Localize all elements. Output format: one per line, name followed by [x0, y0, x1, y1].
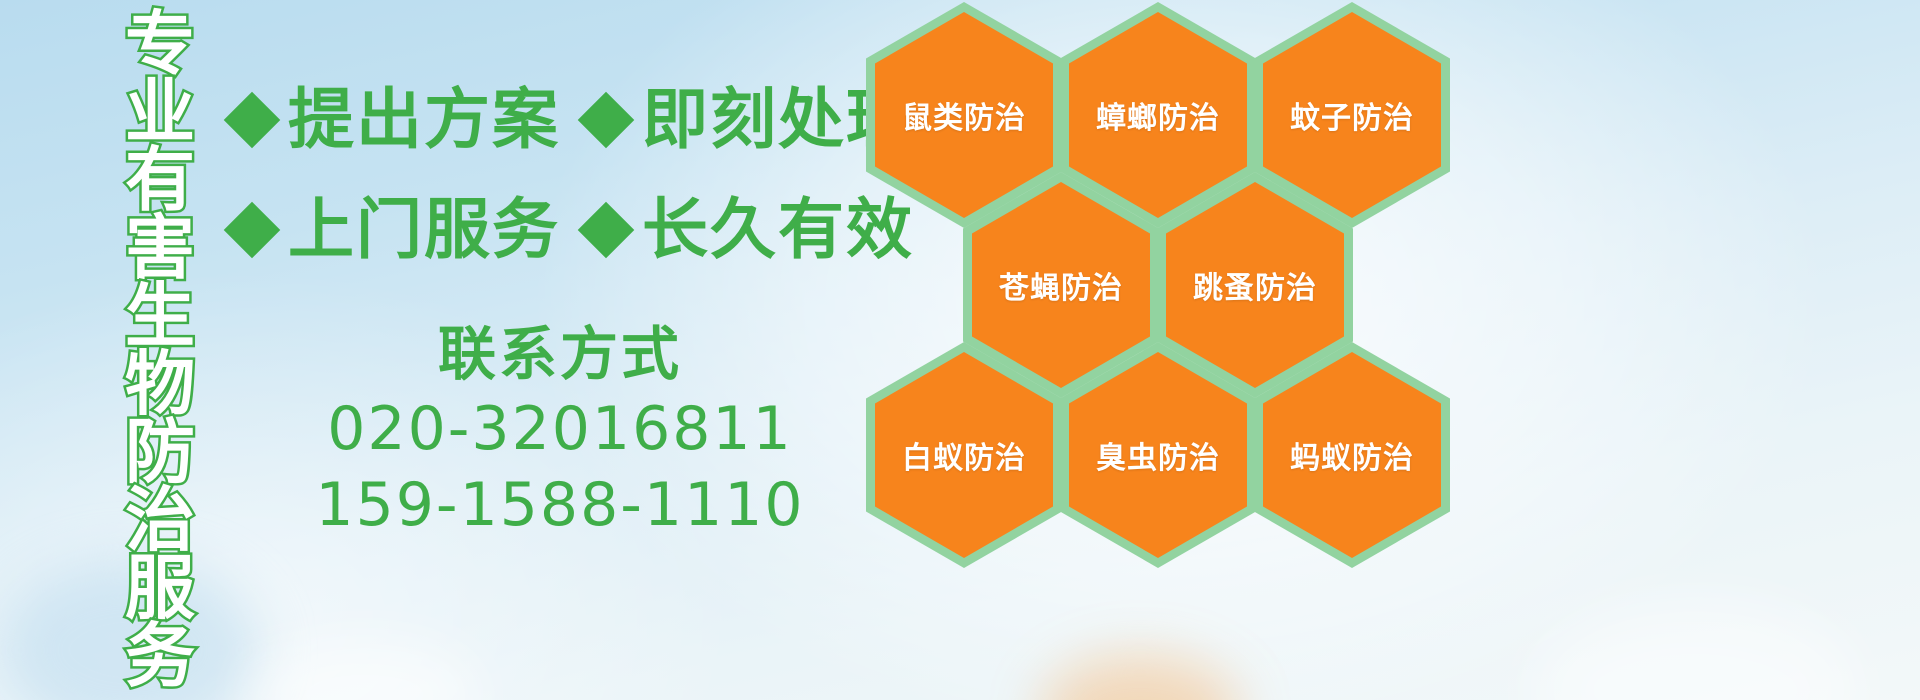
- diamond-icon: [578, 92, 635, 149]
- service-hexagon-label: 蚊子防治: [1290, 93, 1414, 137]
- vertical-headline-char: 服: [125, 556, 195, 624]
- service-hexagon-ant-control[interactable]: 蚂蚁防治: [1254, 342, 1450, 568]
- service-hexagon-label: 鼠类防治: [902, 93, 1026, 137]
- vertical-headline-char: 业: [125, 80, 195, 148]
- service-hexagon-label: 白蚁防治: [902, 433, 1026, 477]
- vertical-headline-char: 专: [125, 12, 195, 80]
- vertical-headline: 专 业 有 害 生 物 防 治 服 务: [108, 12, 212, 692]
- background-blur-blob-bottom-left: [250, 640, 480, 700]
- phone-number-mobile[interactable]: 159-1588-1110: [300, 467, 820, 544]
- vertical-headline-char: 生: [125, 284, 195, 352]
- feature-row: 提出方案 即刻处理: [232, 82, 914, 158]
- service-hexagon-label: 苍蝇防治: [999, 263, 1123, 307]
- service-hexagon-label: 蚂蚁防治: [1290, 433, 1414, 477]
- feature-row: 上门服务 长久有效: [232, 192, 914, 268]
- service-hexagon-cluster: 鼠类防治 蟑螂防治 蚊子防治 苍蝇防治 跳蚤防治 白蚁防治: [862, 0, 1462, 554]
- vertical-headline-char: 务: [125, 624, 195, 692]
- feature-label: 提出方案: [288, 82, 560, 158]
- diamond-icon: [224, 92, 281, 149]
- service-hexagon-bedbug-control[interactable]: 臭虫防治: [1060, 342, 1256, 568]
- diamond-icon: [224, 202, 281, 259]
- feature-label: 上门服务: [288, 192, 560, 268]
- feature-item-propose-plan: 提出方案: [232, 82, 560, 158]
- promo-banner: 专 业 有 害 生 物 防 治 服 务 提出方案 即刻处理 上门服务 长久有效: [0, 0, 1920, 700]
- contact-block: 联系方式 020-32016811 159-1588-1110: [300, 318, 820, 544]
- background-blur-blob-bottom-right: [1530, 600, 1860, 700]
- service-hexagon-label: 臭虫防治: [1096, 433, 1220, 477]
- phone-number-landline[interactable]: 020-32016811: [300, 391, 820, 468]
- feature-item-onsite-service: 上门服务: [232, 192, 560, 268]
- service-hexagon-label: 跳蚤防治: [1193, 263, 1317, 307]
- vertical-headline-char: 害: [125, 216, 195, 284]
- vertical-headline-char: 治: [125, 488, 195, 556]
- service-hexagon-termite-control[interactable]: 白蚁防治: [866, 342, 1062, 568]
- background-blur-blob-bottom-center: [1040, 655, 1240, 700]
- contact-title: 联系方式: [300, 318, 820, 391]
- diamond-icon: [578, 202, 635, 259]
- vertical-headline-char: 防: [125, 420, 195, 488]
- service-hexagon-label: 蟑螂防治: [1096, 93, 1220, 137]
- vertical-headline-char: 物: [125, 352, 195, 420]
- vertical-headline-char: 有: [125, 148, 195, 216]
